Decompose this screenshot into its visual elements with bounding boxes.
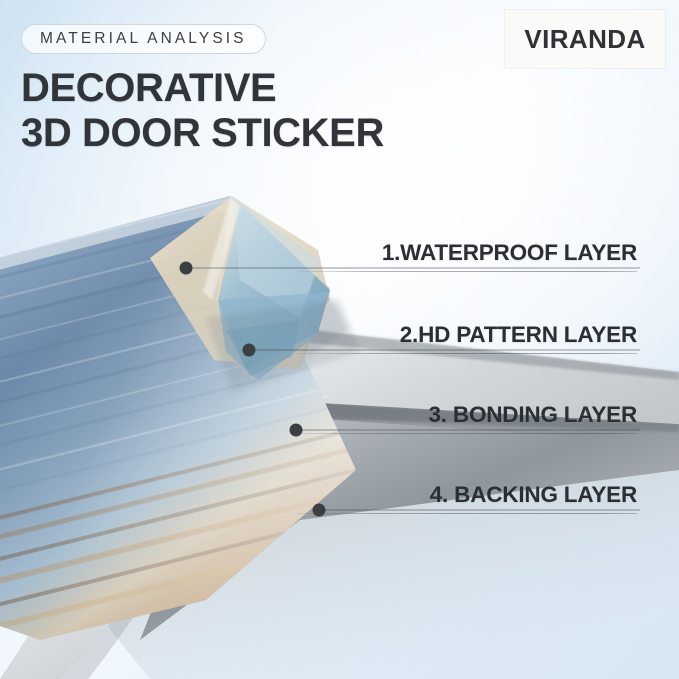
material-analysis-badge: MATERIAL ANALYSIS [21, 24, 266, 54]
brand-name: VIRANDA [524, 24, 645, 55]
callout-label-hd-pattern: 2.HD PATTERN LAYER [297, 322, 637, 348]
callout-rule-backing [297, 513, 637, 514]
callout-rule-waterproof [297, 271, 637, 272]
leader-dot-hd-pattern [243, 344, 256, 357]
title-line-1: DECORATIVE [21, 66, 451, 111]
material-analysis-infographic: 1.WATERPROOF LAYER 2.HD PATTERN LAYER 3.… [0, 0, 679, 679]
callout-label-bonding: 3. BONDING LAYER [297, 402, 637, 428]
leader-dot-waterproof [180, 262, 193, 275]
callout-backing: 4. BACKING LAYER [297, 482, 637, 514]
title-line-2: 3D DOOR STICKER [21, 111, 451, 156]
callout-label-waterproof: 1.WATERPROOF LAYER [297, 240, 637, 266]
callout-hd-pattern: 2.HD PATTERN LAYER [297, 322, 637, 354]
brand-logo: VIRANDA [505, 10, 665, 68]
callout-rule-hd-pattern [297, 353, 637, 354]
callout-bonding: 3. BONDING LAYER [297, 402, 637, 434]
page-title: DECORATIVE 3D DOOR STICKER [21, 66, 451, 156]
badge-label: MATERIAL ANALYSIS [40, 30, 247, 48]
callout-rule-bonding [297, 433, 637, 434]
callout-label-backing: 4. BACKING LAYER [297, 482, 637, 508]
callout-waterproof: 1.WATERPROOF LAYER [297, 240, 637, 272]
